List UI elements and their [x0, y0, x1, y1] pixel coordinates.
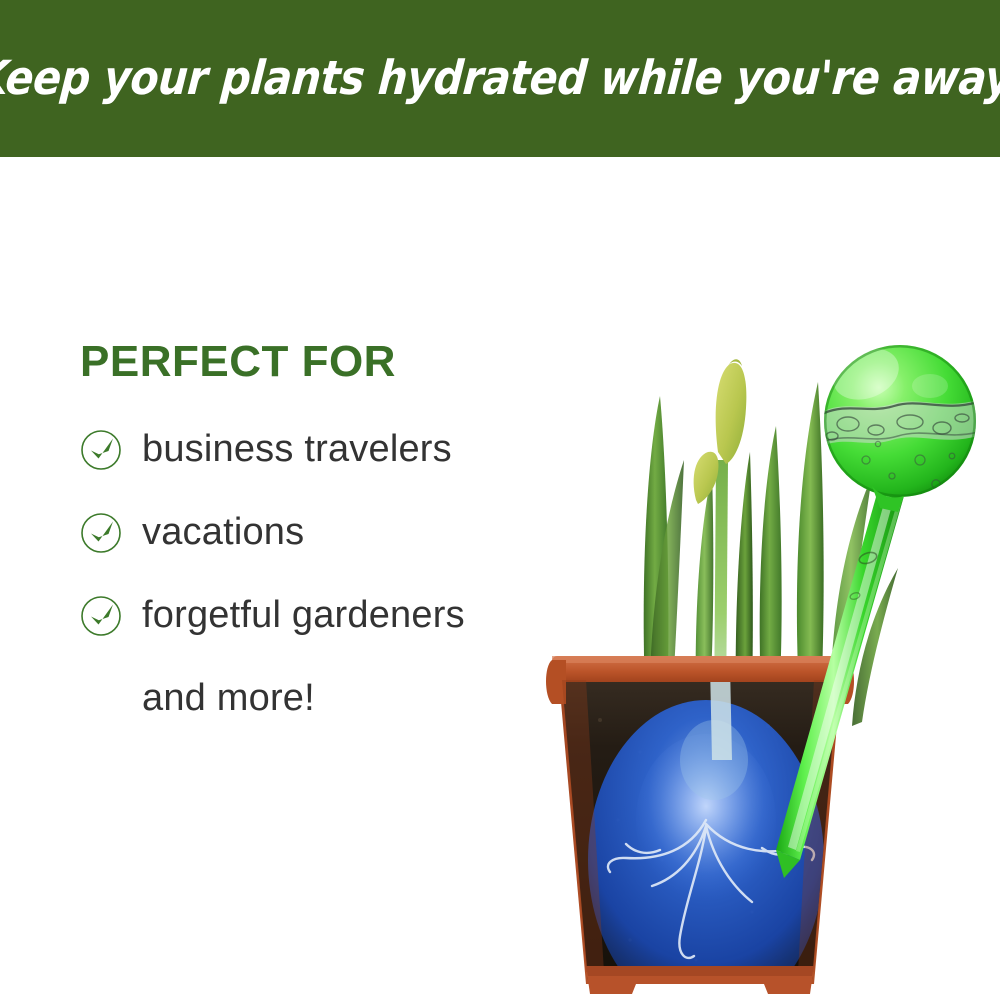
feature-copy-block: PERFECT FOR business travelers: [80, 340, 570, 756]
list-item: vacations: [80, 507, 570, 559]
list-item-label: business travelers: [142, 430, 452, 470]
header-banner: Keep your plants hydrated while you're a…: [0, 0, 1000, 157]
perfect-for-list: business travelers vacations: [80, 424, 570, 725]
list-item: forgetful gardeners: [80, 590, 570, 642]
list-item-label: forgetful gardeners: [142, 596, 465, 636]
list-item-label: vacations: [142, 513, 304, 553]
check-circle-icon: [80, 512, 130, 554]
product-marketing-image: Keep your plants hydrated while you're a…: [0, 0, 1000, 1000]
check-circle-icon: [80, 595, 130, 637]
page-title: PERFECT FOR: [80, 340, 570, 384]
check-circle-icon: [80, 429, 130, 471]
list-item: and more!: [80, 673, 570, 725]
product-photo: [500, 160, 1000, 1000]
banner-headline: Keep your plants hydrated while you're a…: [0, 51, 1000, 106]
list-item: business travelers: [80, 424, 570, 476]
list-item-label: and more!: [142, 679, 315, 719]
